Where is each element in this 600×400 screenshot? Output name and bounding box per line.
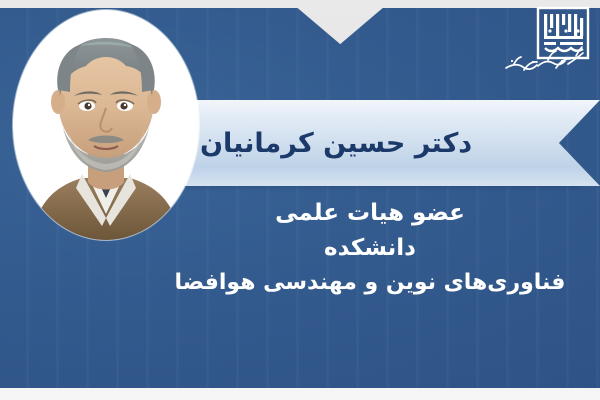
subtitle-line-2: دانشکده <box>150 231 590 266</box>
subtitle-line-1: عضو هیات علمی <box>150 196 590 231</box>
poster-card: دکتر حسین کرمانیان <box>0 0 600 400</box>
shahid-beheshti-logo-icon <box>500 6 592 86</box>
person-name: دکتر حسین کرمانیان <box>200 112 530 174</box>
university-logo <box>500 6 592 86</box>
subtitle-line-3: فناوری‌های نوین و مهندسی هوافضا <box>150 266 590 299</box>
position-subtitle: عضو هیات علمی دانشکده فناوری‌های نوین و … <box>150 196 590 299</box>
